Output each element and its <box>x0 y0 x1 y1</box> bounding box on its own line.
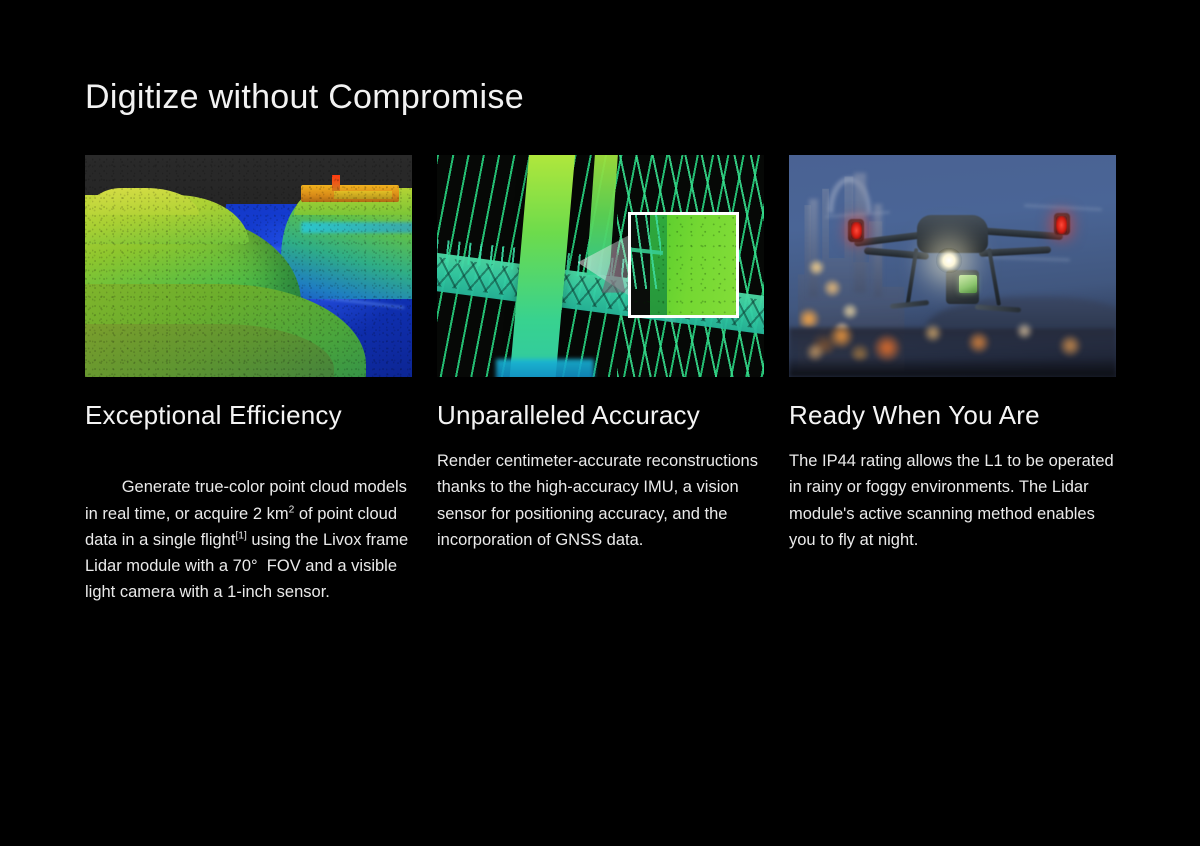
feature-section: Digitize without Compromise <box>0 0 1200 846</box>
body-superscript-footnote: [1] <box>235 530 246 541</box>
feature-column-exceptional-efficiency: Exceptional Efficiency Generate true-col… <box>85 155 412 632</box>
feature-heading-exceptional-efficiency: Exceptional Efficiency <box>85 400 412 431</box>
feature-column-ready-when-you-are: Ready When You Are The IP44 rating allow… <box>789 155 1116 632</box>
bridge-water <box>496 359 594 377</box>
magnifier-inset-panel <box>628 212 739 319</box>
lidar-bridge-point-cloud-image <box>437 155 764 377</box>
feature-body-unparalleled-accuracy: Render centimeter-accurate reconstructio… <box>437 448 764 553</box>
feature-body-ready-when-you-are: The IP44 rating allows the L1 to be oper… <box>789 448 1116 553</box>
foreground-lights <box>789 315 1116 368</box>
lidar-canyon-point-cloud-image <box>85 155 412 377</box>
drone-fuselage <box>917 215 989 253</box>
point-cloud-noise-overlay <box>85 155 412 377</box>
feature-column-unparalleled-accuracy: Unparalleled Accuracy Render centimeter-… <box>437 155 764 632</box>
drone-navigation-light-right <box>1056 216 1067 234</box>
drone-night-flight-image <box>789 155 1116 377</box>
feature-body-exceptional-efficiency: Generate true-color point cloud models i… <box>85 448 412 632</box>
feature-columns: Exceptional Efficiency Generate true-col… <box>85 155 1115 632</box>
inset-point-noise-overlay <box>631 215 736 316</box>
feature-heading-ready-when-you-are: Ready When You Are <box>789 400 1116 431</box>
drone-navigation-light-left <box>851 222 862 240</box>
drone-payload-lens <box>959 275 977 293</box>
feature-heading-unparalleled-accuracy: Unparalleled Accuracy <box>437 400 764 431</box>
drone-spotlight <box>936 248 962 272</box>
page-title: Digitize without Compromise <box>85 78 524 117</box>
